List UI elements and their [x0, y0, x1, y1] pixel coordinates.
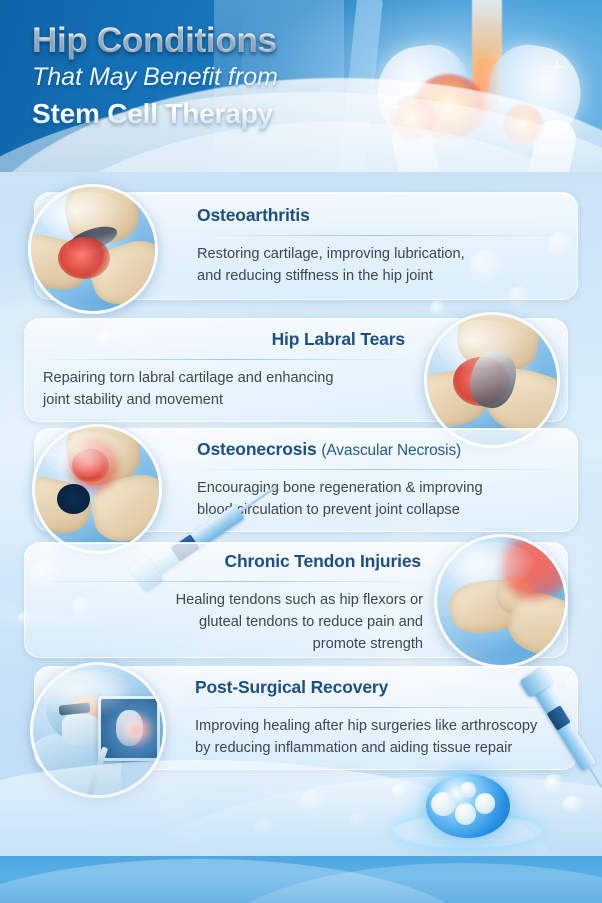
infographic-poster: Hip Conditions That May Benefit from Ste…	[0, 0, 602, 903]
card-heading-2: Hip Labral Tears	[45, 329, 405, 351]
hip-joint-osteoarthritis-image	[28, 184, 158, 314]
card-divider-5	[191, 707, 559, 708]
page-title: Hip Conditions	[32, 22, 278, 60]
poster-header: Hip Conditions That May Benefit from Ste…	[0, 0, 602, 172]
card-body-5: Improving healing after hip surgeries li…	[195, 715, 567, 759]
card-heading-1: Osteoarthritis	[197, 205, 577, 227]
card-body-1: Restoring cartilage, improving lubricati…	[197, 243, 557, 287]
poster-title-block: Hip Conditions That May Benefit from Ste…	[32, 22, 278, 130]
card-body-4: Healing tendons such as hip flexors or g…	[43, 589, 423, 656]
card-divider-1	[193, 235, 559, 236]
osteonecrosis-injection-image	[32, 424, 162, 554]
card-heading-3-sub: (Avascular Necrosis)	[321, 442, 461, 459]
card-divider-3	[193, 469, 559, 470]
page-title-emphasis: Stem Cell Therapy	[32, 97, 278, 131]
stem-cell-injection-illustration	[426, 774, 510, 838]
card-divider-2	[43, 359, 411, 360]
card-body-2: Repairing torn labral cartilage and enha…	[43, 367, 407, 411]
card-heading-4: Chronic Tendon Injuries	[45, 551, 421, 573]
card-heading-3: Osteonecrosis (Avascular Necrosis)	[197, 439, 577, 461]
card-divider-4	[43, 581, 427, 582]
post-surgical-recovery-surgeon-image	[30, 662, 166, 798]
card-heading-5: Post-Surgical Recovery	[195, 677, 577, 699]
footer-bar	[0, 856, 602, 903]
page-subtitle: That May Benefit from	[32, 61, 278, 95]
chronic-tendon-injury-image	[434, 534, 568, 668]
card-body-3: Encouraging bone regeneration & improvin…	[197, 477, 557, 521]
